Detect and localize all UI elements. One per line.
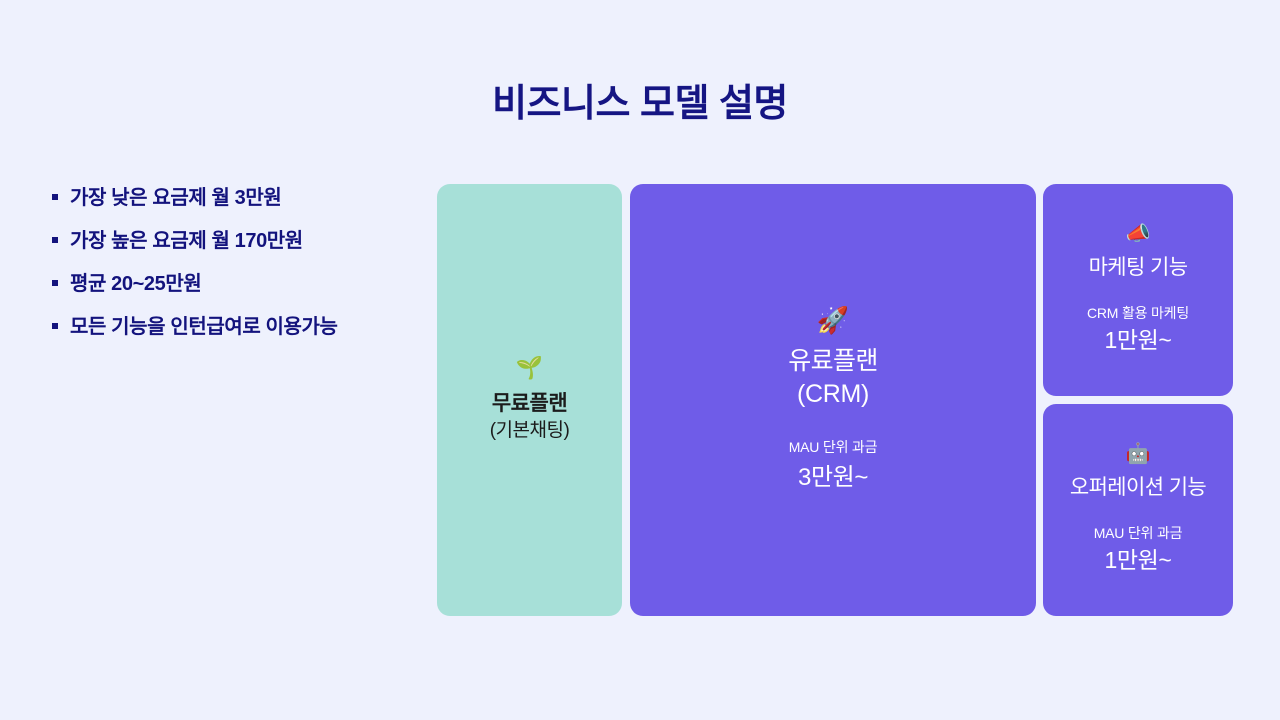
plan-card-paid-meta: MAU 단위 과금 (789, 438, 878, 456)
list-item-label: 가장 높은 요금제 월 170만원 (70, 229, 303, 254)
feature-card-marketing-price: 1만원~ (1105, 326, 1172, 356)
list-item-label: 평균 20~25만원 (70, 272, 201, 297)
bullet-square-icon (52, 237, 58, 243)
feature-card-operation-title: 오퍼레이션 기능 (1070, 474, 1206, 501)
list-item: 가장 높은 요금제 월 170만원 (52, 229, 442, 254)
bullet-square-icon (52, 280, 58, 286)
megaphone-icon: 📣 (1126, 224, 1151, 244)
feature-card-operation-meta: MAU 단위 과금 (1094, 524, 1183, 542)
pricing-cards-area: 🌱 무료플랜 (기본채팅) 🚀 유료플랜 (CRM) MAU 단위 과금 3만원… (437, 184, 1233, 616)
plan-card-paid-price: 3만원~ (798, 462, 868, 493)
feature-card-marketing: 📣 마케팅 기능 CRM 활용 마케팅 1만원~ (1043, 184, 1233, 396)
rocket-icon: 🚀 (817, 307, 849, 333)
presentation-slide: 비즈니스 모델 설명 가장 낮은 요금제 월 3만원 가장 높은 요금제 월 1… (0, 0, 1280, 720)
plan-card-paid-subtitle: (CRM) (797, 378, 869, 411)
plan-card-paid-title: 유료플랜 (788, 345, 878, 378)
list-item: 평균 20~25만원 (52, 272, 442, 297)
plan-card-free-subtitle: (기본채팅) (490, 419, 570, 444)
page-title: 비즈니스 모델 설명 (0, 82, 1280, 128)
feature-card-operation: 🤖 오퍼레이션 기능 MAU 단위 과금 1만원~ (1043, 404, 1233, 616)
plan-card-free-title: 무료플랜 (492, 391, 567, 417)
list-item-label: 가장 낮은 요금제 월 3만원 (70, 186, 281, 211)
bullet-square-icon (52, 194, 58, 200)
robot-icon: 🤖 (1126, 444, 1151, 464)
feature-card-operation-price: 1만원~ (1105, 546, 1172, 576)
list-item: 모든 기능을 인턴급여로 이용가능 (52, 315, 442, 340)
feature-card-marketing-title: 마케팅 기능 (1089, 254, 1188, 281)
list-item: 가장 낮은 요금제 월 3만원 (52, 186, 442, 211)
plan-card-paid: 🚀 유료플랜 (CRM) MAU 단위 과금 3만원~ (630, 184, 1036, 616)
feature-card-marketing-meta: CRM 활용 마케팅 (1087, 304, 1189, 322)
plan-card-free: 🌱 무료플랜 (기본채팅) (437, 184, 622, 616)
bullet-square-icon (52, 323, 58, 329)
list-item-label: 모든 기능을 인턴급여로 이용가능 (70, 315, 337, 340)
summary-bullet-list: 가장 낮은 요금제 월 3만원 가장 높은 요금제 월 170만원 평균 20~… (52, 186, 442, 358)
seedling-icon: 🌱 (516, 357, 543, 379)
